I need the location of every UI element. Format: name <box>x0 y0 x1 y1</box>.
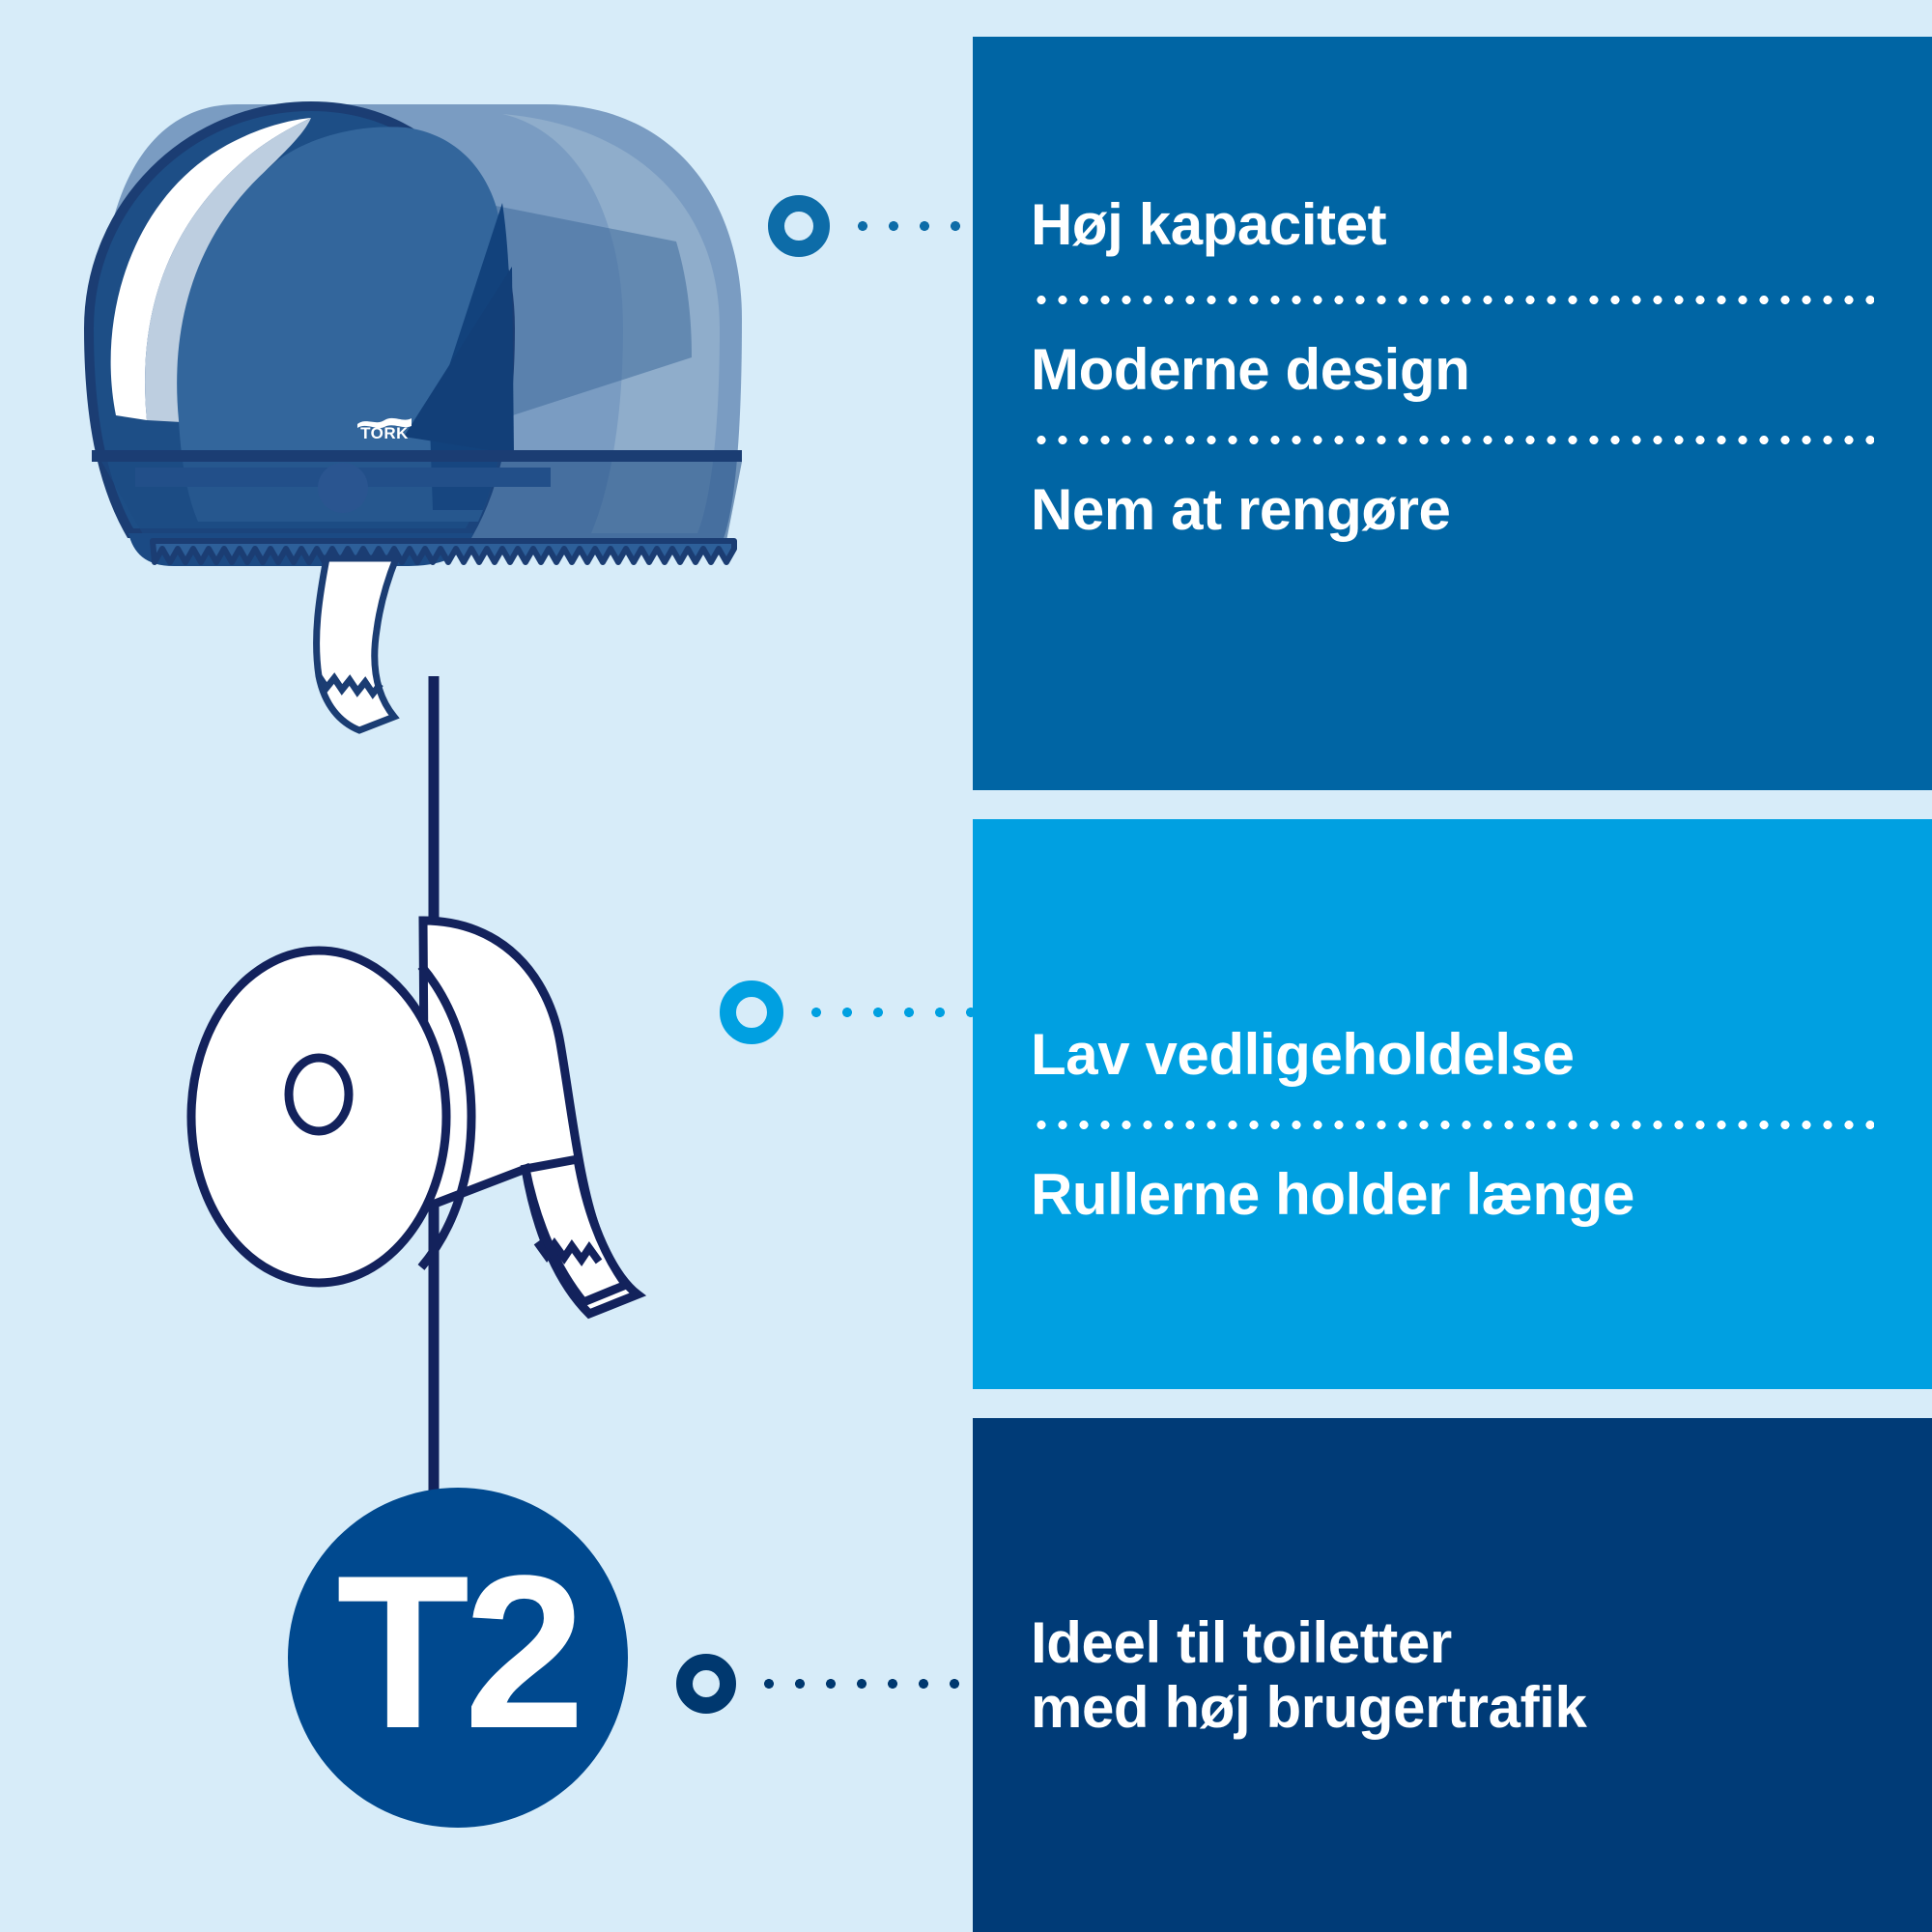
dispenser-seam-line <box>92 450 742 462</box>
connector-dots <box>801 1002 973 1023</box>
connector-dots <box>847 216 973 236</box>
dispenser-illustration <box>89 104 742 730</box>
dispenser-lower-tray <box>101 462 742 541</box>
connector-ideal-use <box>676 1654 973 1714</box>
connector-high-capacity <box>768 195 973 257</box>
connector-ring-icon <box>676 1654 736 1714</box>
feature-divider <box>1031 1121 1874 1129</box>
feature-ideal-for-toilets-line1: Ideel til toiletter <box>1031 1610 1874 1675</box>
tork-logo: TORK <box>356 415 412 444</box>
roll-core-hole <box>289 1058 349 1131</box>
system-code-badge: T2 <box>288 1488 628 1828</box>
connector-ring-icon <box>720 980 783 1044</box>
feature-ideal-for-toilets-line2: med høj brugertrafik <box>1031 1675 1874 1740</box>
feature-divider <box>1031 296 1874 304</box>
dispenser-paper-tail <box>317 558 396 730</box>
maintenance-panel: Lav vedligeholdelse Rullerne holder læng… <box>973 819 1932 1389</box>
ideal-use-panel: Ideel til toiletter med høj brugertrafik <box>973 1418 1932 1932</box>
roll-illustration <box>191 921 638 1314</box>
tork-logo-text: TORK <box>360 425 409 441</box>
feature-low-maintenance: Lav vedligeholdelse <box>1031 1022 1874 1087</box>
feature-modern-design: Moderne design <box>1031 337 1874 402</box>
system-code-label: T2 <box>336 1543 580 1761</box>
connector-ring-icon <box>768 195 830 257</box>
feature-divider <box>1031 436 1874 444</box>
connector-dots <box>753 1673 973 1694</box>
feature-long-lasting-rolls: Rullerne holder længe <box>1031 1162 1874 1227</box>
high-capacity-panel: Høj kapacitet Moderne design Nem at reng… <box>973 37 1932 790</box>
dispenser-lock-nub <box>318 463 368 513</box>
panel-top-spacer <box>1031 981 1874 1022</box>
roll-paper-tail <box>526 1159 626 1302</box>
panel-bottom-spacer <box>1031 542 1874 635</box>
feature-easy-to-clean: Nem at rengøre <box>1031 477 1874 542</box>
infographic-canvas: TORK T2 Høj kapacitet Moderne design Nem… <box>0 0 1932 1932</box>
feature-high-capacity: Høj kapacitet <box>1031 192 1874 257</box>
connector-maintenance <box>720 980 973 1044</box>
